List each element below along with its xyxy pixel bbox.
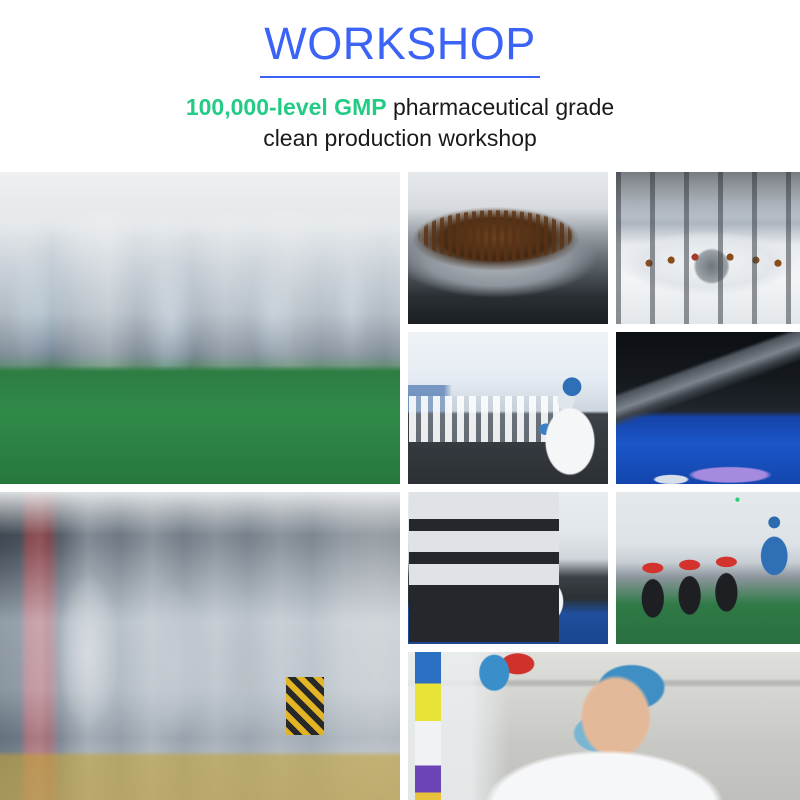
gallery-photo-vial-carousel[interactable] (408, 172, 608, 324)
photo-image (408, 332, 608, 484)
title-container: WORKSHOP (0, 18, 800, 78)
gallery-photo-dark-machine-blue-crate[interactable] (616, 332, 800, 484)
gallery-photo-stainless-tanks[interactable] (0, 492, 400, 800)
photo-image (408, 492, 608, 644)
gallery-photo-lab-bench-technician[interactable] (408, 332, 608, 484)
photo-image (616, 492, 800, 644)
photo-image (616, 172, 800, 324)
gallery-photo-capping-machine[interactable] (616, 172, 800, 324)
photo-image (408, 652, 800, 800)
photo-image (0, 492, 400, 800)
photo-gallery (0, 172, 800, 800)
page-title: WORKSHOP (260, 18, 540, 78)
photo-image (408, 172, 608, 324)
subtitle-highlight: 100,000-level GMP (186, 94, 387, 120)
photo-image (616, 332, 800, 484)
page-header: WORKSHOP 100,000-level GMP pharmaceutica… (0, 0, 800, 172)
gallery-photo-scientist-flask[interactable] (408, 652, 800, 800)
page-subtitle: 100,000-level GMP pharmaceutical grade c… (0, 92, 800, 154)
gallery-photo-packing-machines[interactable] (0, 172, 400, 484)
subtitle-line-2: clean production workshop (0, 123, 800, 154)
subtitle-rest: pharmaceutical grade (387, 94, 615, 120)
subtitle-line-1: 100,000-level GMP pharmaceutical grade (0, 92, 800, 123)
photo-image (0, 172, 400, 484)
gallery-photo-bottle-conveyor[interactable] (616, 492, 800, 644)
gallery-photo-hplc-lab[interactable] (408, 492, 608, 644)
workshop-page: WORKSHOP 100,000-level GMP pharmaceutica… (0, 0, 800, 800)
